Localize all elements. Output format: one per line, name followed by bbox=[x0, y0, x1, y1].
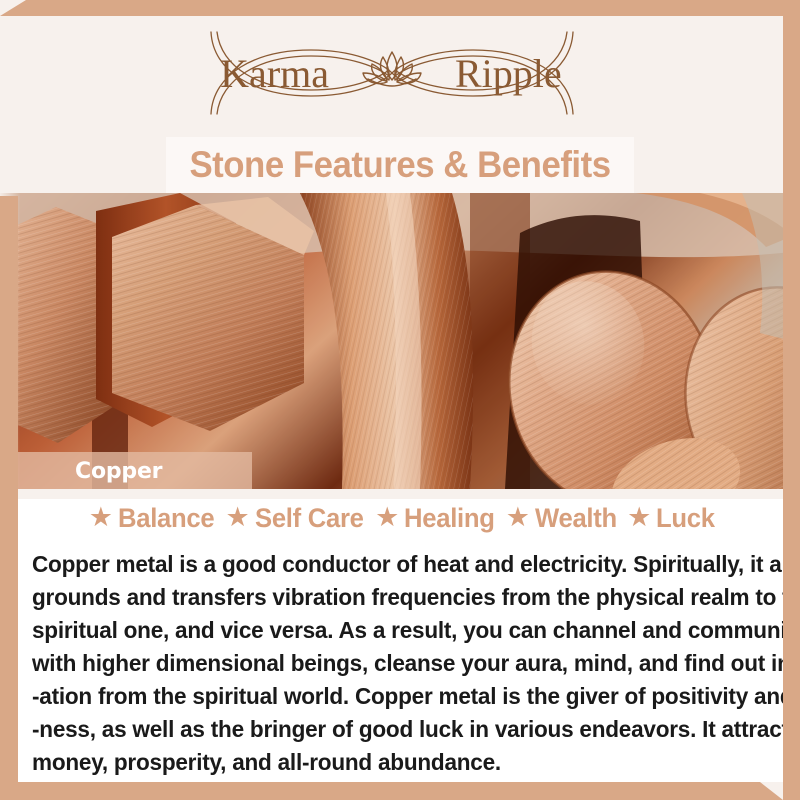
header: Karma Ripple bbox=[0, 16, 783, 128]
star-icon: ★ bbox=[506, 504, 530, 531]
frame-border-bottom bbox=[0, 782, 800, 800]
frame-border-left bbox=[0, 196, 18, 800]
description-line: money, prosperity, and all-round abundan… bbox=[32, 746, 742, 779]
page-title: Stone Features & Benefits bbox=[189, 144, 610, 186]
photo-caption-label: Copper bbox=[75, 459, 162, 484]
description-line: Copper metal is a good conductor of heat… bbox=[32, 548, 742, 581]
feature-label: Healing bbox=[404, 503, 495, 534]
description-text: Copper metal is a good conductor of heat… bbox=[32, 548, 772, 779]
content-panel: ★ Balance ★ Self Care ★ Healing ★ Wealth… bbox=[18, 489, 783, 782]
star-icon: ★ bbox=[225, 504, 249, 531]
photo-caption-bar: Copper bbox=[0, 452, 252, 490]
infographic-page: Karma Ripple Stone Features & Benefits bbox=[0, 0, 800, 800]
description-line: with higher dimensional beings, cleanse … bbox=[32, 647, 742, 680]
brand-name-right: Ripple bbox=[455, 51, 562, 96]
feature-item-self-care: ★ Self Care bbox=[219, 503, 369, 534]
star-icon: ★ bbox=[627, 504, 651, 531]
feature-item-luck: ★ Luck bbox=[621, 503, 718, 534]
lotus-icon bbox=[363, 52, 421, 86]
feature-label: Self Care bbox=[255, 503, 364, 534]
description-line: grounds and transfers vibration frequenc… bbox=[32, 581, 742, 614]
features-row: ★ Balance ★ Self Care ★ Healing ★ Wealth… bbox=[18, 503, 783, 534]
brand-name-left: Karma bbox=[220, 51, 329, 96]
feature-item-healing: ★ Healing bbox=[369, 503, 500, 534]
title-banner: Stone Features & Benefits bbox=[166, 137, 634, 193]
content-top-strip bbox=[18, 489, 783, 499]
frame-border-right bbox=[783, 0, 800, 800]
description-line: -ness, as well as the bringer of good lu… bbox=[32, 713, 742, 746]
feature-label: Balance bbox=[118, 503, 214, 534]
feature-item-balance: ★ Balance bbox=[83, 503, 220, 534]
frame-border-top bbox=[0, 0, 800, 16]
feature-label: Luck bbox=[656, 503, 715, 534]
description-line: -ation from the spiritual world. Copper … bbox=[32, 680, 742, 713]
star-icon: ★ bbox=[375, 504, 399, 531]
description-line: spiritual one, and vice versa. As a resu… bbox=[32, 614, 742, 647]
feature-label: Wealth bbox=[535, 503, 617, 534]
copper-photo bbox=[0, 193, 800, 489]
feature-item-wealth: ★ Wealth bbox=[500, 503, 621, 534]
brand-logo: Karma Ripple bbox=[177, 30, 607, 116]
star-icon: ★ bbox=[89, 504, 113, 531]
